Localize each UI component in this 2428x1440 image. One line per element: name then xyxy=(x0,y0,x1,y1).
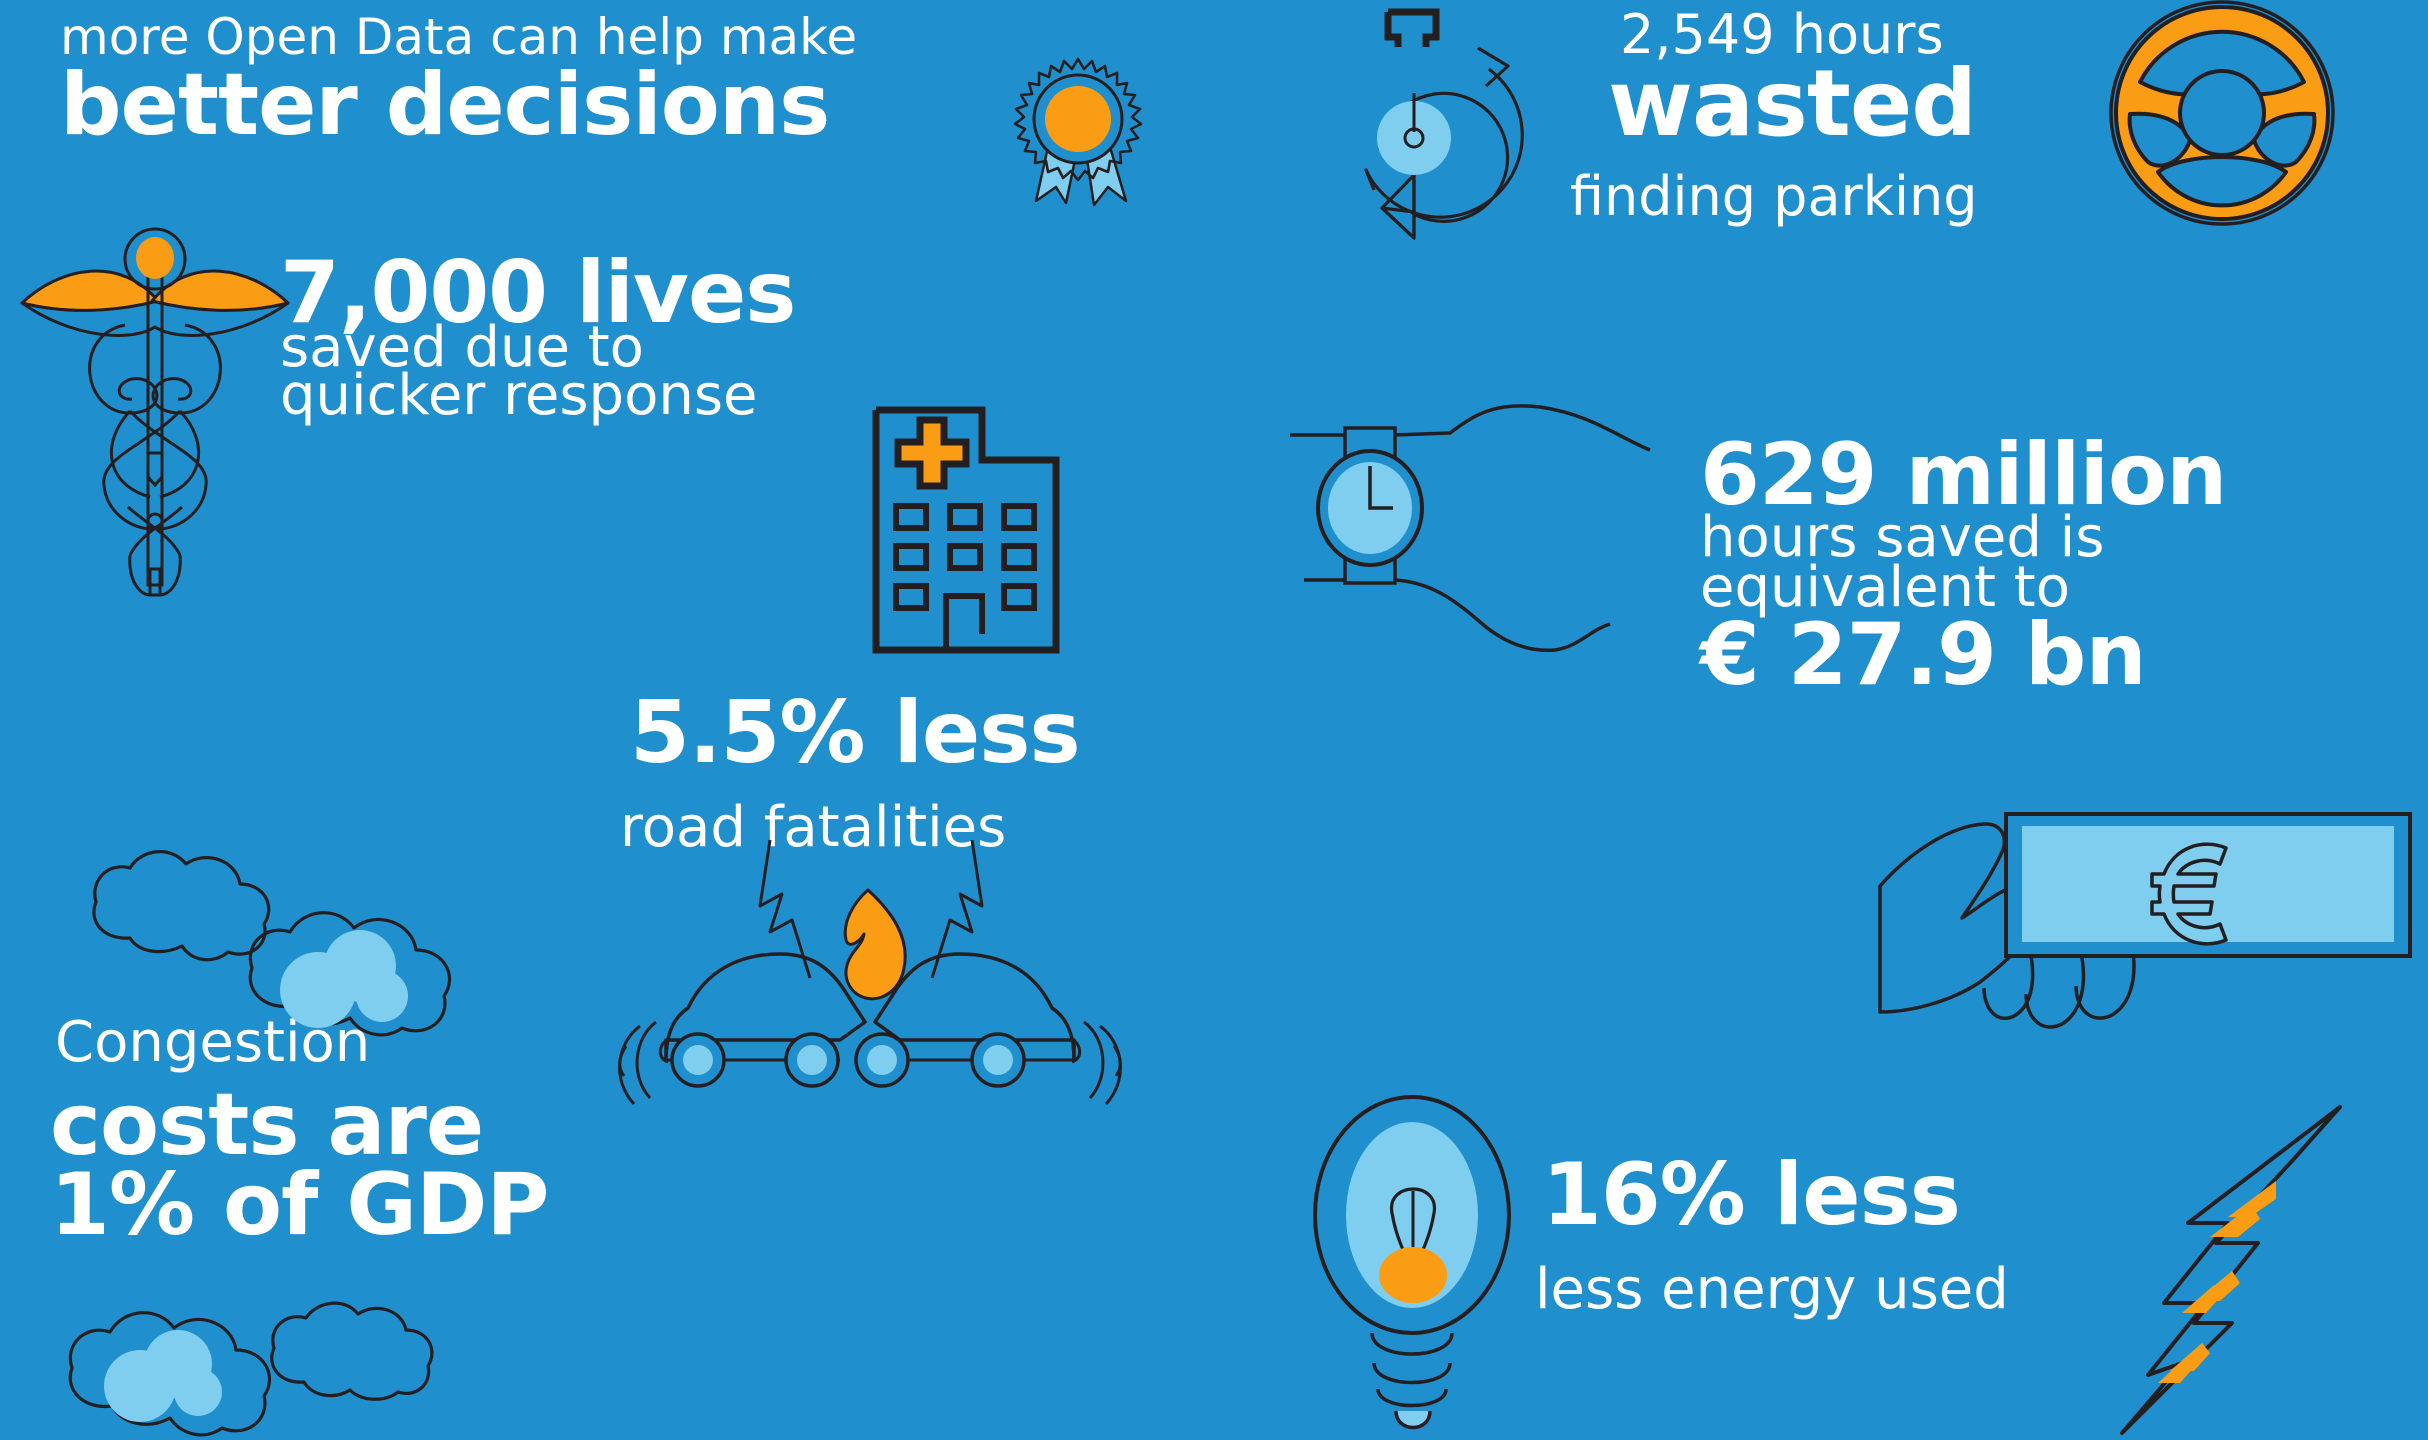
stopwatch-refresh-icon xyxy=(1330,0,1600,250)
hours-euro-value: € 27.9 bn xyxy=(1700,612,2146,698)
parking-finding-label: finding parking xyxy=(1570,170,1978,224)
parking-wasted-label: wasted xyxy=(1608,58,1976,150)
cloud-icon-top xyxy=(30,840,550,1060)
lightning-bolt-icon xyxy=(2110,1095,2390,1440)
caduceus-icon xyxy=(10,185,300,605)
hand-euro-note-icon xyxy=(1880,790,2428,1100)
steering-wheel-icon xyxy=(2110,0,2340,230)
cloud-icon-bottom xyxy=(50,1260,520,1440)
energy-sub: less energy used xyxy=(1535,1262,2009,1318)
hospital-icon xyxy=(870,398,1100,668)
infographic-canvas: more Open Data can help make better deci… xyxy=(0,0,2428,1440)
lightbulb-icon xyxy=(1300,1085,1580,1440)
fatalities-number: 5.5% less xyxy=(630,690,1080,776)
wristwatch-icon xyxy=(1290,400,1710,680)
congestion-line2: 1% of GDP xyxy=(50,1162,548,1248)
award-ribbon-icon xyxy=(990,55,1170,205)
headline-main: better decisions xyxy=(60,62,829,148)
energy-number: 16% less xyxy=(1542,1152,1960,1238)
lives-sub-line2: quicker response xyxy=(280,368,757,424)
